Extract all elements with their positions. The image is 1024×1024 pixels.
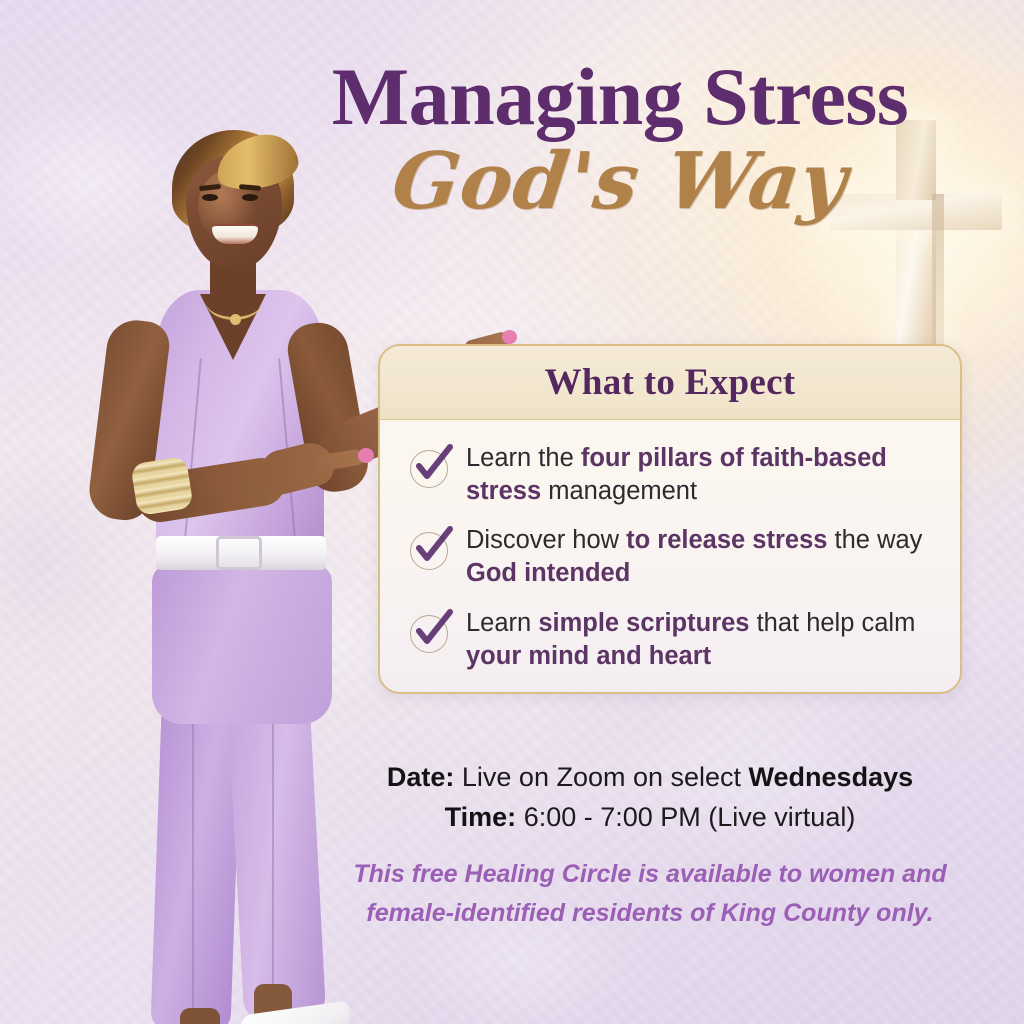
belt-buckle	[216, 536, 262, 570]
eye-left	[202, 194, 218, 201]
date-value-emphasis: Wednesdays	[749, 762, 914, 792]
date-value: Live on Zoom on select	[454, 762, 748, 792]
list-item-text: Learn the four pillars of faith-based st…	[466, 442, 930, 508]
card-title: What to Expect	[545, 361, 796, 404]
time-label: Time:	[445, 802, 517, 832]
date-line: Date: Live on Zoom on select Wednesdays	[300, 758, 1000, 798]
check-tick-icon	[408, 607, 456, 655]
gold-bangles	[130, 456, 193, 516]
ankle-left	[180, 1008, 220, 1024]
list-item-text: Learn simple scriptures that help calm y…	[466, 607, 930, 673]
disclaimer-line-2: female-identified residents of King Coun…	[300, 894, 1000, 933]
check-tick-icon	[408, 442, 456, 490]
necklace-pendant	[230, 314, 241, 325]
smile	[212, 224, 258, 244]
check-icon	[408, 611, 452, 655]
disclaimer-line-1: This free Healing Circle is available to…	[300, 855, 1000, 894]
trouser-crease-left	[192, 718, 194, 1008]
list-item-text: Discover how to release stress the way G…	[466, 524, 930, 590]
list-item: Learn the four pillars of faith-based st…	[408, 442, 930, 508]
leg-left	[150, 703, 241, 1024]
card-header-band: What to Expect	[380, 346, 960, 420]
hips	[152, 564, 332, 724]
list-item: Learn simple scriptures that help calm y…	[408, 607, 930, 673]
fingernail-right	[502, 330, 517, 344]
card-body: Learn the four pillars of faith-based st…	[380, 420, 960, 673]
time-value: 6:00 - 7:00 PM (Live virtual)	[516, 802, 855, 832]
check-icon	[408, 528, 452, 572]
event-details: Date: Live on Zoom on select Wednesdays …	[300, 758, 1000, 838]
time-line: Time: 6:00 - 7:00 PM (Live virtual)	[300, 798, 1000, 838]
check-tick-icon	[408, 524, 456, 572]
what-to-expect-card: What to Expect Learn the four pillars of…	[378, 344, 962, 694]
list-item: Discover how to release stress the way G…	[408, 524, 930, 590]
eye-right	[242, 194, 258, 201]
poster-canvas: Managing Stress God's Way	[0, 0, 1024, 1024]
date-label: Date:	[387, 762, 455, 792]
check-icon	[408, 446, 452, 490]
eligibility-disclaimer: This free Healing Circle is available to…	[300, 855, 1000, 933]
trouser-crease-right	[272, 718, 274, 998]
